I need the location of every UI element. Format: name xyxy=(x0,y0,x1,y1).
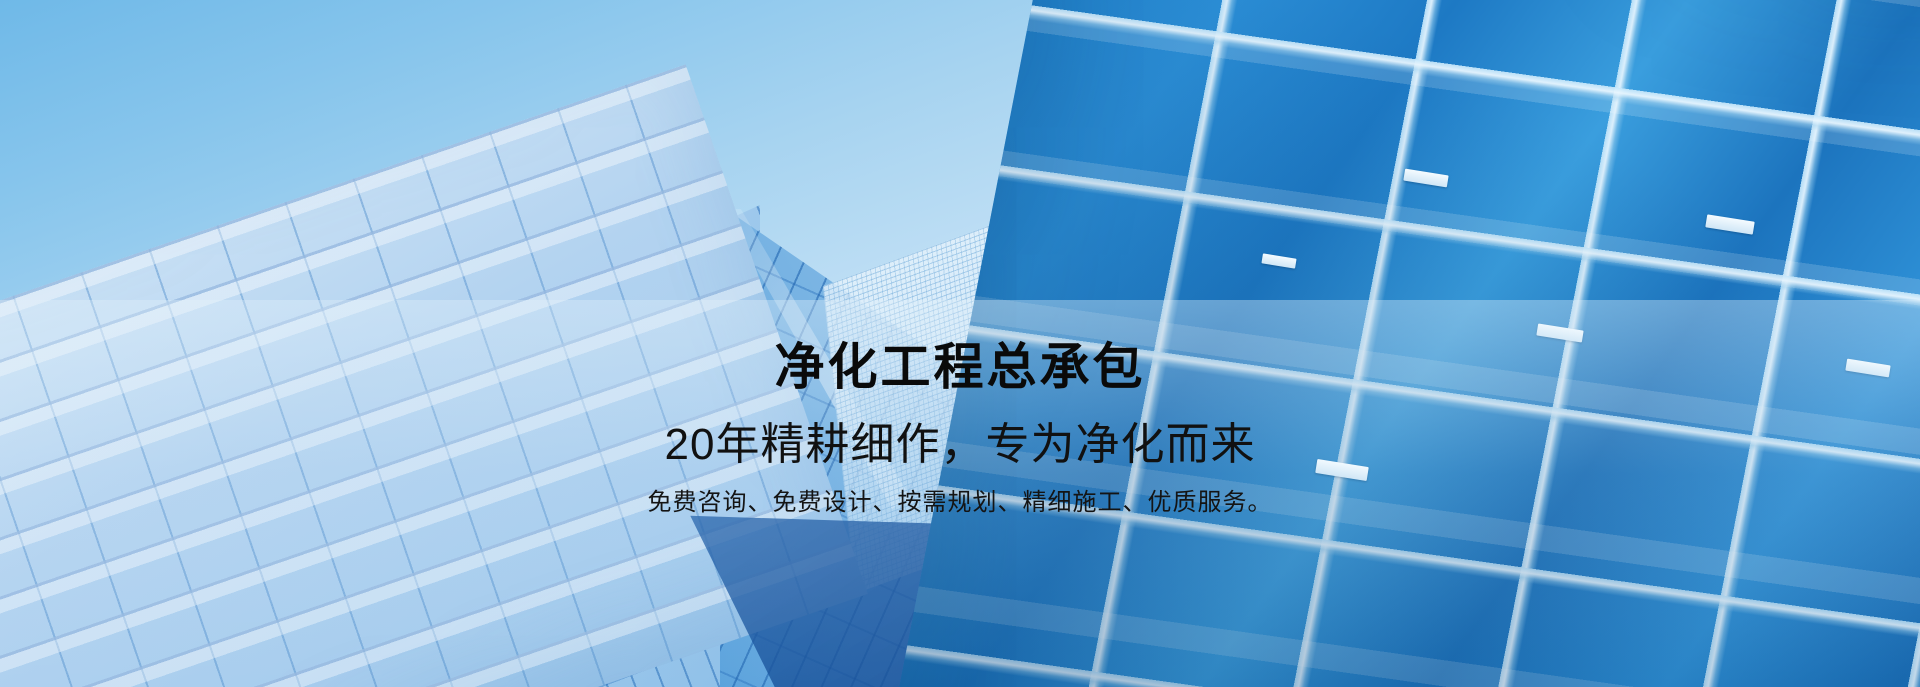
banner-headline: 净化工程总承包 xyxy=(0,338,1920,396)
hero-banner: 净化工程总承包 20年精耕细作，专为净化而来 免费咨询、免费设计、按需规划、精细… xyxy=(0,0,1920,687)
facade-vent-plate xyxy=(1705,214,1754,234)
facade-vent-plate xyxy=(1261,253,1296,268)
facade-vent-plate xyxy=(1403,169,1448,188)
banner-tagline: 免费咨询、免费设计、按需规划、精细施工、优质服务。 xyxy=(0,486,1920,520)
banner-subheadline: 20年精耕细作，专为净化而来 xyxy=(0,418,1920,472)
